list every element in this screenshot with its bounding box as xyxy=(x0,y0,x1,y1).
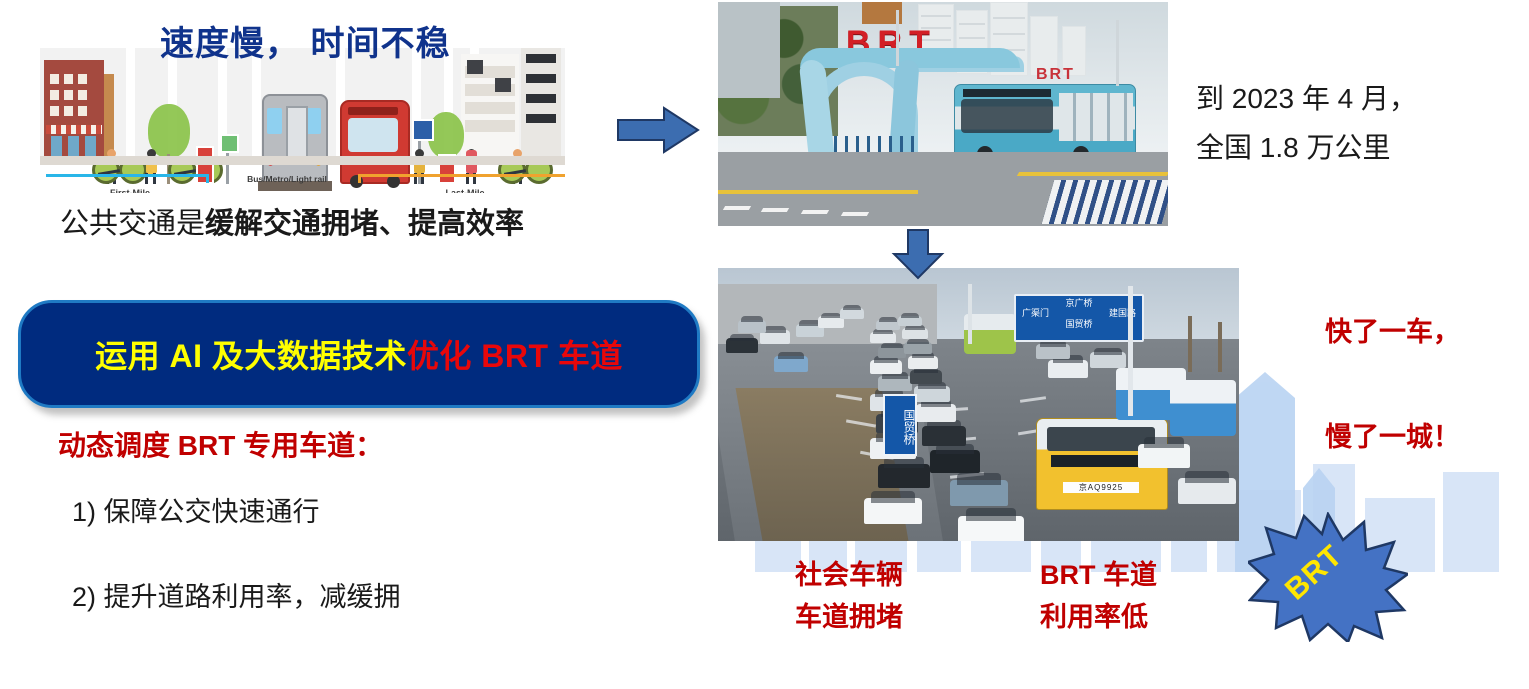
vehicle xyxy=(878,464,930,488)
overhead-direction-sign: 京广桥 广渠门 建国路 国贸桥 xyxy=(1014,294,1144,342)
vehicle xyxy=(738,320,766,333)
vehicle xyxy=(1138,444,1190,468)
callout-red-text: 优化 BRT 车道 xyxy=(407,338,623,374)
gateway-bridge-sign: 国贸桥 xyxy=(883,394,917,456)
first-last-mile-infographic: First-Mile Bus/Metro/Light rail Last-Mil… xyxy=(40,48,565,193)
bullet-item-1: 1) 保障公交快速通行 xyxy=(72,490,320,529)
caption-social-vehicles: 社会车辆 车道拥堵 xyxy=(795,555,903,639)
bullet-item-2: 2) 提升道路利用率，减缓拥 xyxy=(72,575,401,614)
vehicle xyxy=(930,450,980,473)
vehicle xyxy=(904,342,932,354)
sign-left-dest: 广渠门 xyxy=(1022,308,1049,318)
blue-bus xyxy=(1170,380,1236,436)
headline-slow-unstable: 速度慢， 时间不稳 xyxy=(160,16,580,65)
vehicle xyxy=(878,346,906,358)
arrow-right-icon xyxy=(612,104,704,156)
vehicle xyxy=(870,332,896,343)
stat-line-1: 到 2023 年 4 月， xyxy=(1196,74,1526,123)
stat-line-2: 全国 1.8 万公里 xyxy=(1196,123,1526,172)
light-pole xyxy=(1128,286,1133,416)
street-ground xyxy=(40,156,565,165)
bus-stop-sign xyxy=(412,119,434,141)
public-transit-statement: 公共交通是缓解交通拥堵、提高效率 xyxy=(60,200,700,242)
street-lamp xyxy=(1116,20,1119,86)
dynamic-dispatch-heading: 动态调度 BRT 专用车道： xyxy=(58,424,383,464)
left-building xyxy=(718,2,780,98)
vehicle xyxy=(908,356,938,369)
traffic-congestion-photo: 京AQ9925 国贸桥 京广桥 广渠门 建国路 国贸桥 xyxy=(718,268,1239,541)
label-first-mile: First-Mile xyxy=(50,188,210,193)
light-pole xyxy=(968,284,972,344)
vehicle xyxy=(876,320,900,330)
last-mile-tick xyxy=(358,174,361,183)
vehicle xyxy=(922,426,966,446)
vehicle xyxy=(914,386,950,402)
vehicle xyxy=(726,338,758,353)
callout-yellow-text: 运用 AI 及大数据技术 xyxy=(95,338,407,374)
white-apartment-building xyxy=(461,54,519,156)
sign-line-top: 京广桥 xyxy=(1018,298,1140,308)
vehicle xyxy=(958,516,1024,541)
caption-left-line-1: 社会车辆 xyxy=(795,555,903,597)
arrow-down-icon xyxy=(890,228,946,280)
brt-far-sign: BRT xyxy=(1036,66,1075,84)
sign-line-bottom: 国贸桥 xyxy=(1018,319,1140,329)
first-mile-bar xyxy=(46,174,208,177)
red-brick-building xyxy=(44,60,104,156)
last-mile-bar xyxy=(358,174,565,177)
bus-license-plate: 京AQ9925 xyxy=(1063,482,1139,493)
caption-brt-lane: BRT 车道 利用率低 xyxy=(1040,555,1157,639)
bike-share-kiosk xyxy=(196,146,214,184)
brt-station-photo: BRT BRT xyxy=(718,2,1168,226)
nationwide-statistic-text: 到 2023 年 4 月， 全国 1.8 万公里 xyxy=(1196,74,1526,172)
pt-bold-text: 缓解交通拥堵、提高效率 xyxy=(205,208,524,240)
left-content-column: 速度慢， 时间不稳 xyxy=(0,0,718,689)
slow-one-city-text: 慢了一城！ xyxy=(1325,415,1460,454)
vehicle xyxy=(1178,478,1236,504)
metro-train xyxy=(262,94,328,184)
vehicle xyxy=(1090,352,1126,368)
first-mile-tick xyxy=(206,174,209,183)
vehicle xyxy=(1036,344,1070,359)
street-lamp xyxy=(896,10,899,66)
callout-text: 运用 AI 及大数据技术优化 BRT 车道 xyxy=(95,331,623,377)
bare-tree xyxy=(1188,316,1192,372)
lane-barrier xyxy=(1042,180,1168,224)
pt-normal-text: 公共交通是 xyxy=(60,208,205,240)
bare-tree xyxy=(1218,322,1222,372)
caption-right-line-1: BRT 车道 xyxy=(1040,555,1157,597)
green-sign xyxy=(220,134,239,153)
red-bus xyxy=(340,100,410,184)
vehicle xyxy=(840,308,864,319)
vehicle xyxy=(902,328,928,339)
vehicle xyxy=(870,360,902,374)
bg-stripe xyxy=(126,48,135,156)
label-bus-metro-light-rail: Bus/Metro/Light rail xyxy=(222,174,352,184)
vehicle xyxy=(878,376,912,391)
vehicle xyxy=(774,356,808,372)
vehicle xyxy=(898,316,922,326)
fast-one-vehicle-text: 快了一车， xyxy=(1325,310,1460,349)
brt-starburst-badge: BRT xyxy=(1248,512,1408,642)
caption-left-line-2: 车道拥堵 xyxy=(795,597,903,639)
label-last-mile: Last-Mile xyxy=(370,188,560,193)
vehicle xyxy=(1048,360,1088,378)
vehicle xyxy=(916,404,956,422)
vehicle xyxy=(950,480,1008,506)
ai-bigdata-callout-box[interactable]: 运用 AI 及大数据技术优化 BRT 车道 xyxy=(18,300,700,408)
vehicle xyxy=(910,370,942,384)
articulated-brt-bus xyxy=(954,84,1136,158)
vehicle xyxy=(864,498,922,524)
caption-right-line-2: 利用率低 xyxy=(1040,597,1157,639)
